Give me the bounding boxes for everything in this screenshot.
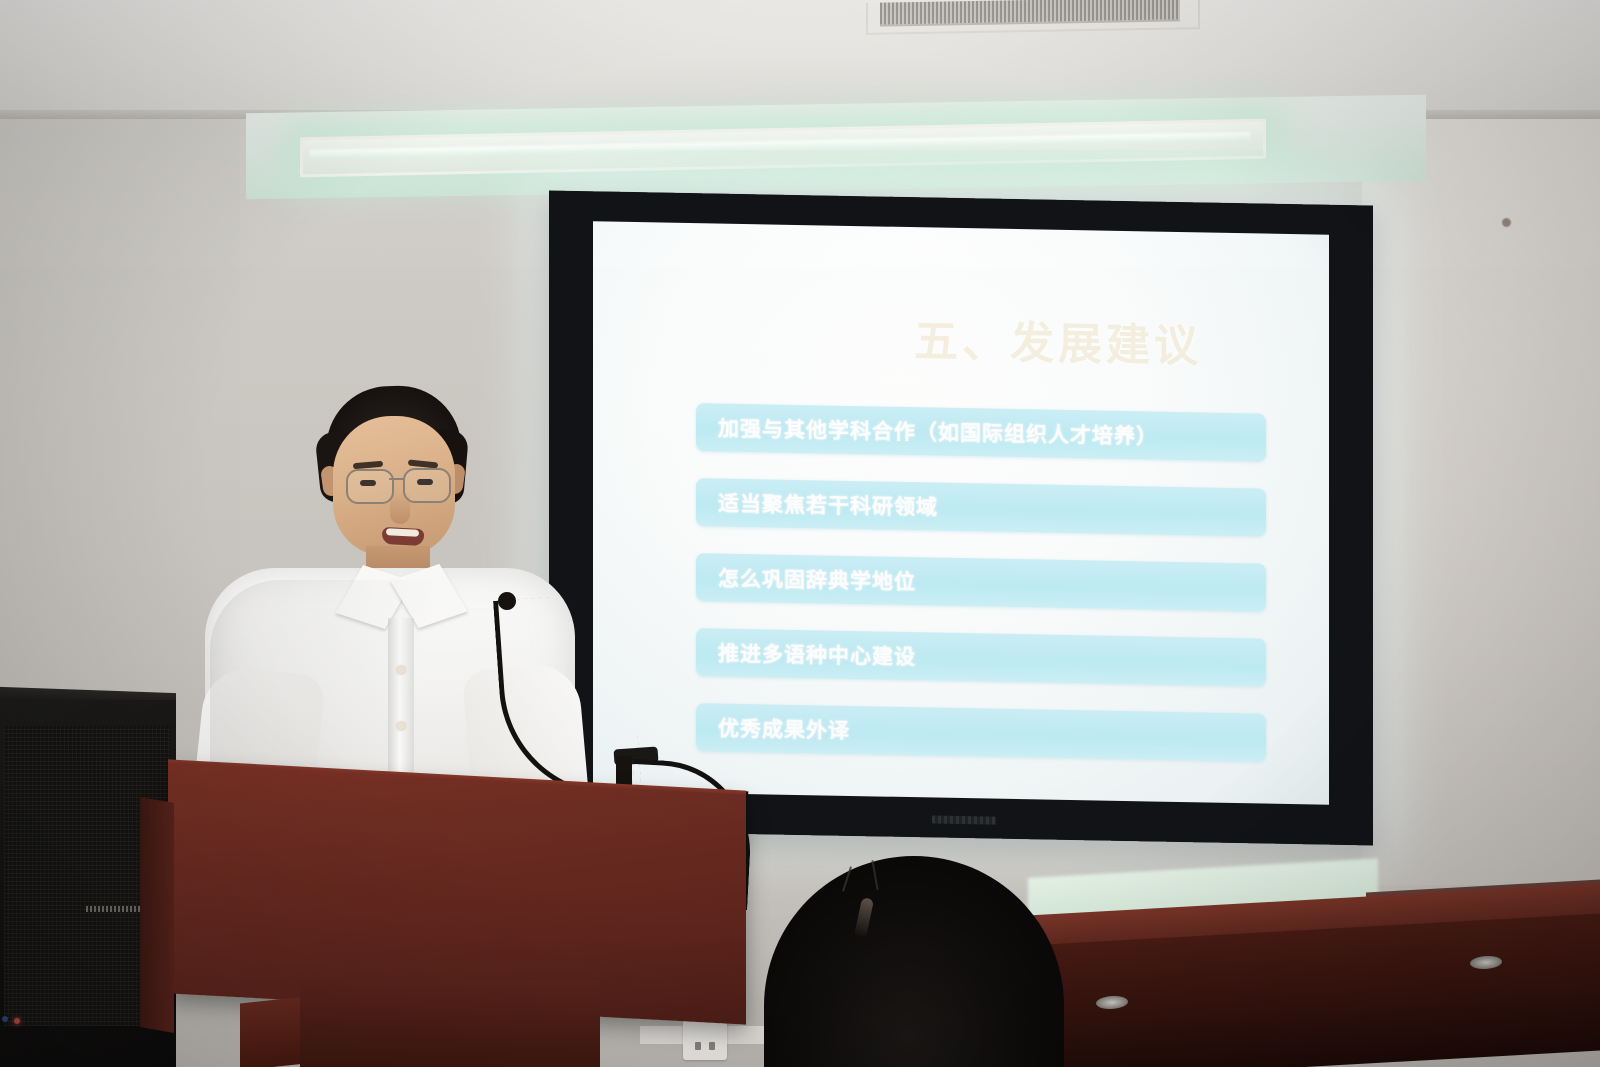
slide-bullet-label: 推进多语种中心建设 [696,637,916,671]
slide-bullet-label: 怎么巩固辞典学地位 [696,562,916,596]
presenter-nose [390,492,410,524]
slide-bullet-label: 优秀成果外译 [696,712,850,745]
eyeglasses-lens-left-icon [346,469,394,504]
projector-screen-logo-icon [932,815,996,824]
slide-bullet-item-1: 加强与其他学科合作（如国际组织人才培养） [696,403,1266,461]
slide-bullet-item-3: 怎么巩固辞典学地位 [696,553,1266,611]
slide-bullet-label: 适当聚焦若干科研领域 [696,487,938,521]
podium-base-left [240,997,306,1067]
loudspeaker-power-led-icon [14,1018,20,1024]
slide-bullet-list: 加强与其他学科合作（如国际组织人才培养） 适当聚焦若干科研领域 怎么巩固辞典学地… [696,403,1266,788]
shirt-button [397,722,405,730]
eyeglasses-bridge-icon [389,478,404,480]
right-wall [1362,95,1600,885]
outlet-slot [695,1042,701,1050]
ceiling-fixture-screw [1502,218,1511,227]
outlet-slot [709,1042,715,1050]
slide-bullet-label: 加强与其他学科合作（如国际组织人才培养） [696,412,1158,450]
shirt-button [397,666,405,674]
eyeglasses-lens-right-icon [403,468,451,503]
podium-base [300,980,600,1067]
slide-bullet-item-4: 推进多语种中心建设 [696,628,1266,686]
projection-screen-frame: 五、发展建议 加强与其他学科合作（如国际组织人才培养） 适当聚焦若干科研领域 怎… [549,190,1373,845]
loudspeaker-status-led-icon [2,1016,8,1022]
slide-bullet-item-2: 适当聚焦若干科研领域 [696,478,1266,536]
projection-screen-surface: 五、发展建议 加强与其他学科合作（如国际组织人才培养） 适当聚焦若干科研领域 怎… [593,221,1329,804]
wall-power-outlet-icon [683,1020,727,1060]
slide-bullet-item-5: 优秀成果外译 [696,703,1266,761]
slide-title: 五、发展建议 [848,304,1268,376]
presentation-photo-scene: 五、发展建议 加强与其他学科合作（如国际组织人才培养） 适当聚焦若干科研领域 怎… [0,0,1600,1067]
podium-side-panel [140,797,174,1033]
